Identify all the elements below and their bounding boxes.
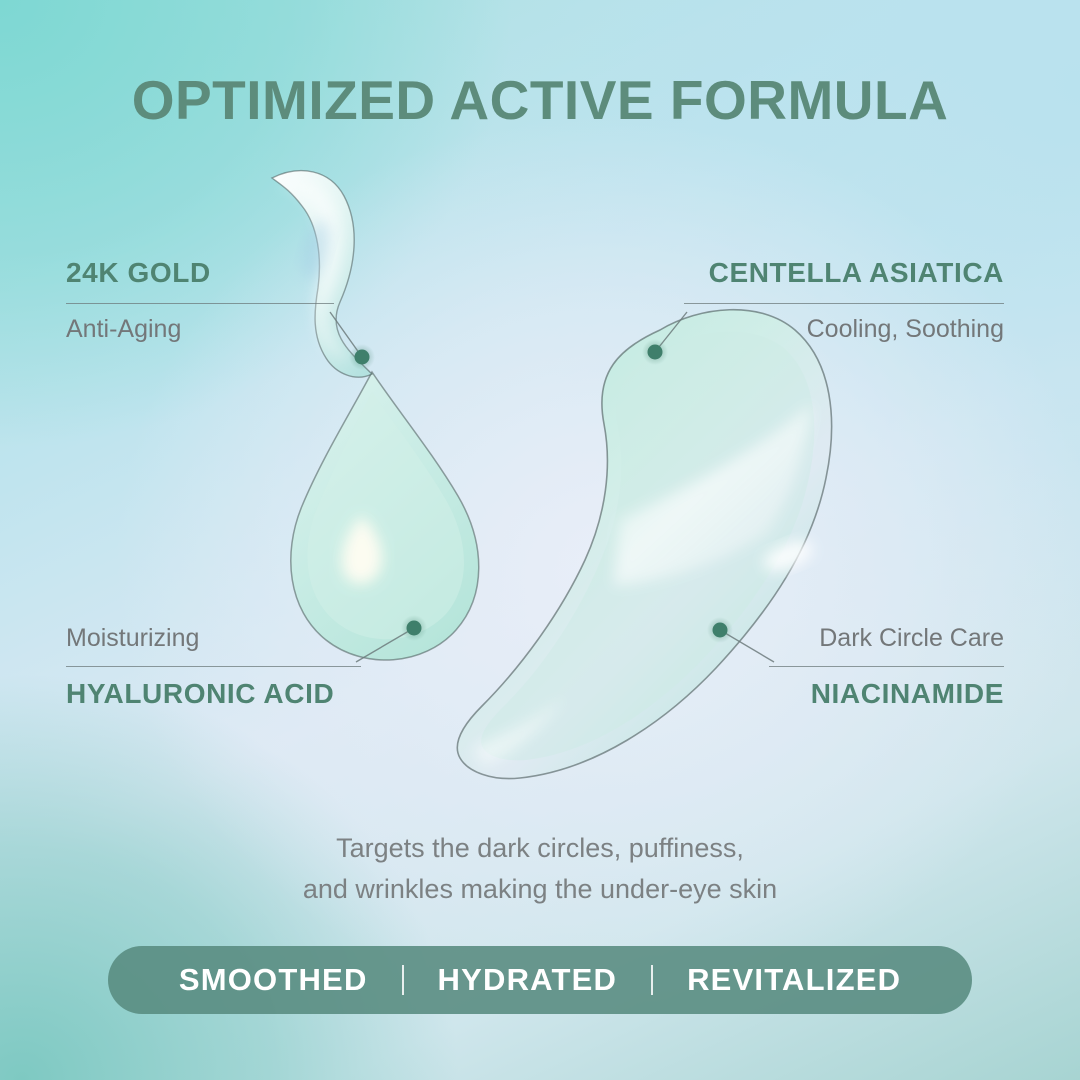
benefit-smoothed: SMOOTHED xyxy=(145,962,402,998)
callout-centella-asiatica: CENTELLA ASIATICA Cooling, Soothing xyxy=(684,258,1004,344)
callout-rule xyxy=(66,666,361,667)
ingredient-name-24k-gold: 24K GOLD xyxy=(66,258,334,289)
benefit-hydrated: HYDRATED xyxy=(404,962,652,998)
connector-centella xyxy=(655,312,687,352)
callout-niacinamide: Dark Circle Care NIACINAMIDE xyxy=(724,624,1004,710)
callout-hyaluronic-acid: Moisturizing HYALURONIC ACID xyxy=(66,624,361,710)
ingredient-benefit-24k-gold: Anti-Aging xyxy=(66,315,334,344)
product-artwork xyxy=(0,0,1080,1080)
ingredient-benefit-niacinamide: Dark Circle Care xyxy=(724,624,1004,653)
description-line-1: Targets the dark circles, puffiness, xyxy=(0,828,1080,869)
callout-rule xyxy=(769,666,1004,667)
teardrop-spoon-gua-sha-shape xyxy=(272,171,479,660)
page-title: OPTIMIZED ACTIVE FORMULA xyxy=(0,68,1080,132)
callout-rule xyxy=(684,303,1004,304)
ingredient-benefit-centella-asiatica: Cooling, Soothing xyxy=(684,315,1004,344)
description-line-2: and wrinkles making the under-eye skin xyxy=(0,869,1080,910)
ingredient-name-niacinamide: NIACINAMIDE xyxy=(724,679,1004,710)
callout-connectors xyxy=(330,312,774,662)
connector-hyaluronic xyxy=(356,628,414,662)
callout-24k-gold: 24K GOLD Anti-Aging xyxy=(66,258,334,344)
callout-rule xyxy=(66,303,334,304)
description-text: Targets the dark circles, puffiness, and… xyxy=(0,828,1080,910)
connector-gold xyxy=(330,312,362,357)
ingredient-benefit-hyaluronic-acid: Moisturizing xyxy=(66,624,361,653)
callout-dots xyxy=(349,339,733,643)
benefits-bar: SMOOTHED HYDRATED REVITALIZED xyxy=(108,946,972,1014)
ingredient-name-hyaluronic-acid: HYALURONIC ACID xyxy=(66,679,361,710)
ingredient-name-centella-asiatica: CENTELLA ASIATICA xyxy=(684,258,1004,289)
benefit-revitalized: REVITALIZED xyxy=(653,962,935,998)
product-infographic: OPTIMIZED ACTIVE FORMULA 24K GOLD Anti-A… xyxy=(0,0,1080,1080)
